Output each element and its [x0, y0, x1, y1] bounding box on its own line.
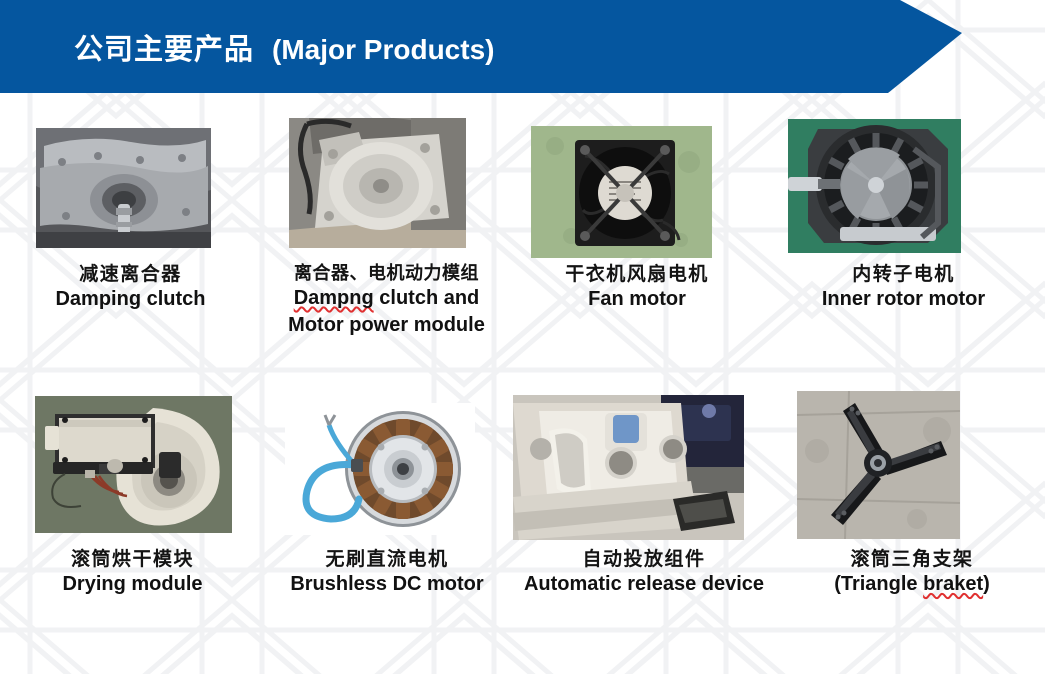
product-card-fan-motor[interactable]: 干衣机风扇电机 Fan motor — [512, 93, 762, 383]
product-caption: 无刷直流电机 Brushless DC motor — [265, 548, 509, 597]
page-title-cn: 公司主要产品 — [74, 32, 254, 66]
triangle-bracket-photo — [797, 391, 960, 539]
product-name-en-line2: Motor power module — [261, 314, 512, 338]
product-card-damping-clutch[interactable]: 减速离合器 Damping clutch — [0, 93, 261, 383]
product-name-en: Damping clutch — [0, 288, 261, 312]
fan-motor-photo — [531, 126, 712, 258]
product-name-cn: 滚筒烘干模块 — [0, 548, 265, 570]
misspelled-word: braket — [923, 573, 983, 595]
product-name-cn: 离合器、电机动力模组 — [261, 263, 512, 284]
product-name-cn: 减速离合器 — [0, 263, 261, 285]
misspelled-word: Dampng — [294, 287, 374, 309]
product-name-en: Automatic release device — [509, 573, 779, 597]
product-card-brushless-dc-motor[interactable]: 无刷直流电机 Brushless DC motor — [265, 383, 509, 674]
product-name-cn: 内转子电机 — [762, 263, 1045, 285]
product-name-en: Fan motor — [512, 288, 762, 312]
product-caption: 滚筒三角支架 (Triangle braket) — [779, 548, 1045, 597]
product-name-en-prefix: (Triangle — [834, 573, 923, 595]
product-name-cn: 无刷直流电机 — [265, 548, 509, 570]
product-name-en: Brushless DC motor — [265, 573, 509, 597]
brushless-dc-motor-photo — [285, 403, 475, 535]
product-row: 减速离合器 Damping clutch — [0, 93, 1045, 383]
damping-clutch-photo — [36, 128, 211, 248]
product-name-en: (Triangle braket) — [779, 573, 1045, 597]
product-card-triangle-bracket[interactable]: 滚筒三角支架 (Triangle braket) — [779, 383, 1045, 674]
product-row: 滚筒烘干模块 Drying module — [0, 383, 1045, 674]
product-card-inner-rotor-motor[interactable]: 内转子电机 Inner rotor motor — [762, 93, 1045, 383]
product-name-en-suffix: ) — [983, 573, 990, 595]
product-card-clutch-motor-power-module[interactable]: 离合器、电机动力模组 Dampng clutch and Motor power… — [261, 93, 512, 383]
product-name-en-rest1: clutch and — [374, 287, 480, 309]
product-name-en-line1: Dampng clutch and — [261, 287, 512, 311]
product-caption: 减速离合器 Damping clutch — [0, 263, 261, 312]
header-title: 公司主要产品(Major Products) — [0, 0, 962, 93]
product-caption: 干衣机风扇电机 Fan motor — [512, 263, 762, 312]
product-name-cn: 滚筒三角支架 — [779, 548, 1045, 570]
inner-rotor-motor-photo — [788, 119, 961, 253]
product-name-en: Drying module — [0, 573, 265, 597]
product-name-cn: 干衣机风扇电机 — [512, 263, 762, 285]
drying-module-photo — [35, 396, 232, 533]
page-title-en: (Major Products) — [272, 34, 494, 65]
product-caption: 离合器、电机动力模组 Dampng clutch and Motor power… — [261, 263, 512, 337]
automatic-release-device-photo — [513, 395, 744, 540]
product-card-drying-module[interactable]: 滚筒烘干模块 Drying module — [0, 383, 265, 674]
product-caption: 自动投放组件 Automatic release device — [509, 548, 779, 597]
product-name-cn: 自动投放组件 — [509, 548, 779, 570]
product-name-en: Inner rotor motor — [762, 288, 1045, 312]
clutch-motor-power-module-photo — [289, 118, 466, 248]
product-caption: 滚筒烘干模块 Drying module — [0, 548, 265, 597]
product-grid: 减速离合器 Damping clutch — [0, 93, 1045, 674]
product-card-automatic-release-device[interactable]: 自动投放组件 Automatic release device — [509, 383, 779, 674]
product-caption: 内转子电机 Inner rotor motor — [762, 263, 1045, 312]
